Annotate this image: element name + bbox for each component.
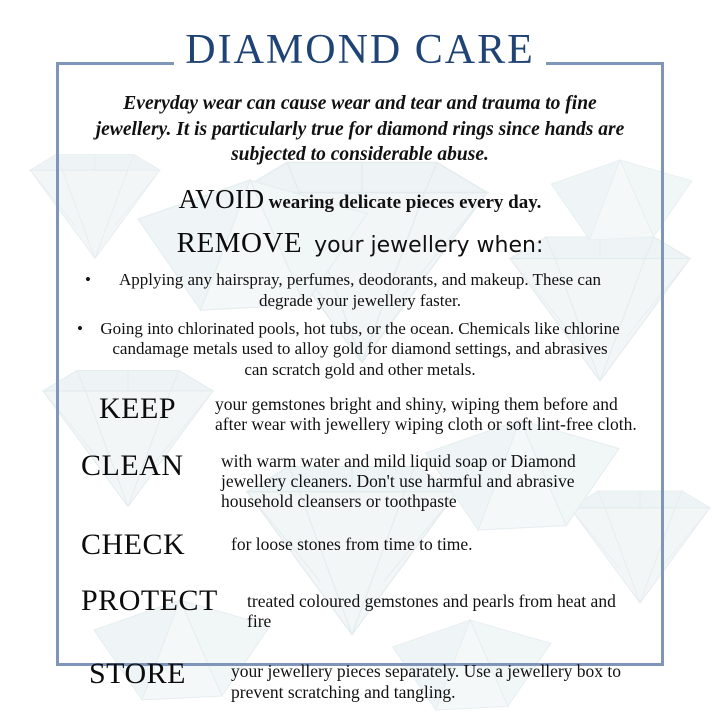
clean-text: with warm water and mild liquid soap or …	[213, 451, 641, 512]
section-clean: CLEAN with warm water and mild liquid so…	[75, 451, 645, 512]
avoid-text: wearing delicate pieces every day.	[269, 192, 542, 213]
bullet-marker-icon: •	[77, 319, 83, 339]
remove-line: REMOVE your jewellery when:	[75, 227, 645, 260]
diamond-care-card: DIAMOND CARE Everyday wear can cause wea…	[56, 62, 664, 666]
store-keyword: STORE	[81, 659, 217, 689]
list-item-text: Going into chlorinated pools, hot tubs, …	[100, 319, 619, 379]
intro-paragraph: Everyday wear can cause wear and tear an…	[85, 91, 635, 168]
list-item: • Going into chlorinated pools, hot tubs…	[75, 319, 645, 380]
keep-text: your gemstones bright and shiny, wiping …	[207, 394, 641, 435]
list-item: • Applying any hairspray, perfumes, deod…	[75, 270, 645, 311]
section-keep: KEEP your gemstones bright and shiny, wi…	[75, 394, 645, 435]
card-content: Everyday wear can cause wear and tear an…	[59, 65, 661, 663]
protect-text: treated coloured gemstones and pearls fr…	[237, 586, 641, 632]
store-text: your jewellery pieces separately. Use a …	[217, 659, 641, 702]
protect-keyword: PROTECT	[81, 586, 237, 616]
section-store: STORE your jewellery pieces separately. …	[75, 659, 645, 702]
check-keyword: CHECK	[81, 530, 219, 560]
list-item-text: Applying any hairspray, perfumes, deodor…	[119, 270, 601, 309]
bullet-marker-icon: •	[85, 270, 91, 290]
page-title: DIAMOND CARE	[59, 29, 661, 71]
section-check: CHECK for loose stones from time to time…	[75, 530, 645, 560]
avoid-line: AVOID wearing delicate pieces every day.	[75, 184, 645, 215]
avoid-keyword: AVOID	[179, 184, 265, 214]
remove-keyword: REMOVE	[177, 227, 302, 259]
remove-bullet-list: • Applying any hairspray, perfumes, deod…	[75, 270, 645, 380]
clean-keyword: CLEAN	[81, 451, 213, 481]
keep-keyword: KEEP	[81, 394, 207, 424]
section-protect: PROTECT treated coloured gemstones and p…	[75, 586, 645, 632]
remove-text: your jewellery when:	[306, 233, 543, 258]
check-text: for loose stones from time to time.	[219, 534, 641, 554]
